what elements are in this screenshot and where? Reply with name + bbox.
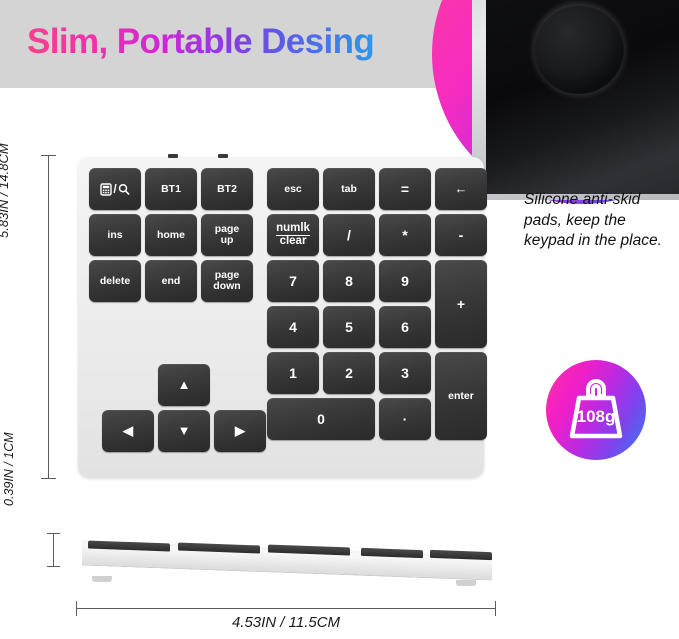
key-arrow-right[interactable]: ▶ — [214, 410, 266, 452]
key-label: esc — [284, 184, 302, 195]
key-page-down[interactable]: pagedown — [201, 260, 253, 302]
thickness-dimension-label: 0.39IN / 1CM — [2, 432, 16, 506]
key-label: 4 — [289, 320, 297, 334]
key-calc-search[interactable]: / — [89, 168, 141, 210]
key-page-up[interactable]: pageup — [201, 214, 253, 256]
key-label: 5 — [345, 320, 353, 334]
key-enter[interactable]: enter — [435, 352, 487, 440]
page-title: Slim, Portable Desing — [27, 22, 374, 62]
key-home[interactable]: home — [145, 214, 197, 256]
key-esc[interactable]: esc — [267, 168, 319, 210]
key-arrow-down[interactable]: ▼ — [158, 410, 210, 452]
key-label: 8 — [345, 274, 353, 288]
key-num-1[interactable]: 1 — [267, 352, 319, 394]
key-num-7[interactable]: 7 — [267, 260, 319, 302]
key-label: BT1 — [161, 184, 181, 195]
key-label: = — [401, 182, 409, 196]
key-num-3[interactable]: 3 — [379, 352, 431, 394]
key-num-6[interactable]: 6 — [379, 306, 431, 348]
weight-badge: 108g — [546, 360, 646, 460]
profile-foot — [92, 576, 112, 582]
key-label: 0 — [317, 412, 325, 426]
weight-value: 108g — [546, 360, 646, 460]
key-bt2[interactable]: BT2 — [201, 168, 253, 210]
profile-foot — [456, 580, 476, 586]
key-decimal[interactable]: · — [379, 398, 431, 440]
key-label: + — [457, 297, 465, 311]
width-dimension-line — [76, 608, 496, 609]
calculator-search-icon: / — [100, 183, 129, 196]
key-label-primary: numlk — [276, 223, 310, 236]
key-label: 1 — [289, 366, 297, 380]
key-label: ← — [455, 182, 468, 195]
key-num-2[interactable]: 2 — [323, 352, 375, 394]
key-backspace[interactable]: ← — [435, 168, 487, 210]
led-indicator-1 — [168, 154, 178, 158]
key-label: enter — [448, 391, 474, 402]
key-bt1[interactable]: BT1 — [145, 168, 197, 210]
side-profile-view — [78, 520, 498, 582]
key-label: · — [403, 412, 408, 426]
key-plus[interactable]: + — [435, 260, 487, 348]
key-label: 7 — [289, 274, 297, 288]
feature-caption: Silicone anti-skid pads, keep the keypad… — [524, 190, 674, 252]
key-label: / — [347, 228, 351, 242]
key-divide[interactable]: / — [323, 214, 375, 256]
key-label: tab — [341, 184, 357, 195]
key-delete[interactable]: delete — [89, 260, 141, 302]
led-indicator-2 — [218, 154, 228, 158]
key-label: ▼ — [178, 424, 191, 437]
silicone-pad-closeup-photo — [472, 0, 679, 200]
key-label-secondary: down — [213, 281, 240, 292]
key-label: 9 — [401, 274, 409, 288]
key-arrow-left[interactable]: ◀ — [102, 410, 154, 452]
width-dimension-label: 4.53IN / 11.5CM — [76, 614, 496, 631]
key-end[interactable]: end — [145, 260, 197, 302]
key-num-4[interactable]: 4 — [267, 306, 319, 348]
thickness-dimension-line — [53, 533, 54, 567]
key-minus[interactable]: - — [435, 214, 487, 256]
product-infographic: Slim, Portable Desing 5.83IN / 14.8CM /B… — [0, 0, 679, 639]
key-label: 3 — [401, 366, 409, 380]
key-num-9[interactable]: 9 — [379, 260, 431, 302]
key-tab[interactable]: tab — [323, 168, 375, 210]
key-ins[interactable]: ins — [89, 214, 141, 256]
key-label: end — [162, 276, 181, 287]
key-label: 2 — [345, 366, 353, 380]
key-label-secondary: clear — [280, 236, 307, 248]
key-label: * — [402, 228, 407, 242]
key-label-secondary: up — [221, 235, 234, 246]
key-label: ▲ — [178, 378, 191, 391]
key-arrow-up[interactable]: ▲ — [158, 364, 210, 406]
key-label: ◀ — [123, 424, 133, 437]
key-num-0[interactable]: 0 — [267, 398, 375, 440]
height-dimension-line — [48, 155, 49, 479]
key-label: delete — [100, 276, 130, 287]
key-label: ▶ — [235, 424, 245, 437]
key-label: - — [459, 228, 464, 242]
key-label: 6 — [401, 320, 409, 334]
key-label: home — [157, 230, 185, 241]
height-dimension-label: 5.83IN / 14.8CM — [0, 143, 11, 238]
key-label: BT2 — [217, 184, 237, 195]
key-equals[interactable]: = — [379, 168, 431, 210]
key-label: ins — [107, 230, 122, 241]
key-multiply[interactable]: * — [379, 214, 431, 256]
key-num-8[interactable]: 8 — [323, 260, 375, 302]
key-numlk-clear[interactable]: numlkclear — [267, 214, 319, 256]
silicone-pad-icon — [534, 4, 624, 94]
numeric-keypad: /BT1BT2esctab=←inshomepageupnumlkclear/*… — [78, 157, 484, 478]
key-num-5[interactable]: 5 — [323, 306, 375, 348]
